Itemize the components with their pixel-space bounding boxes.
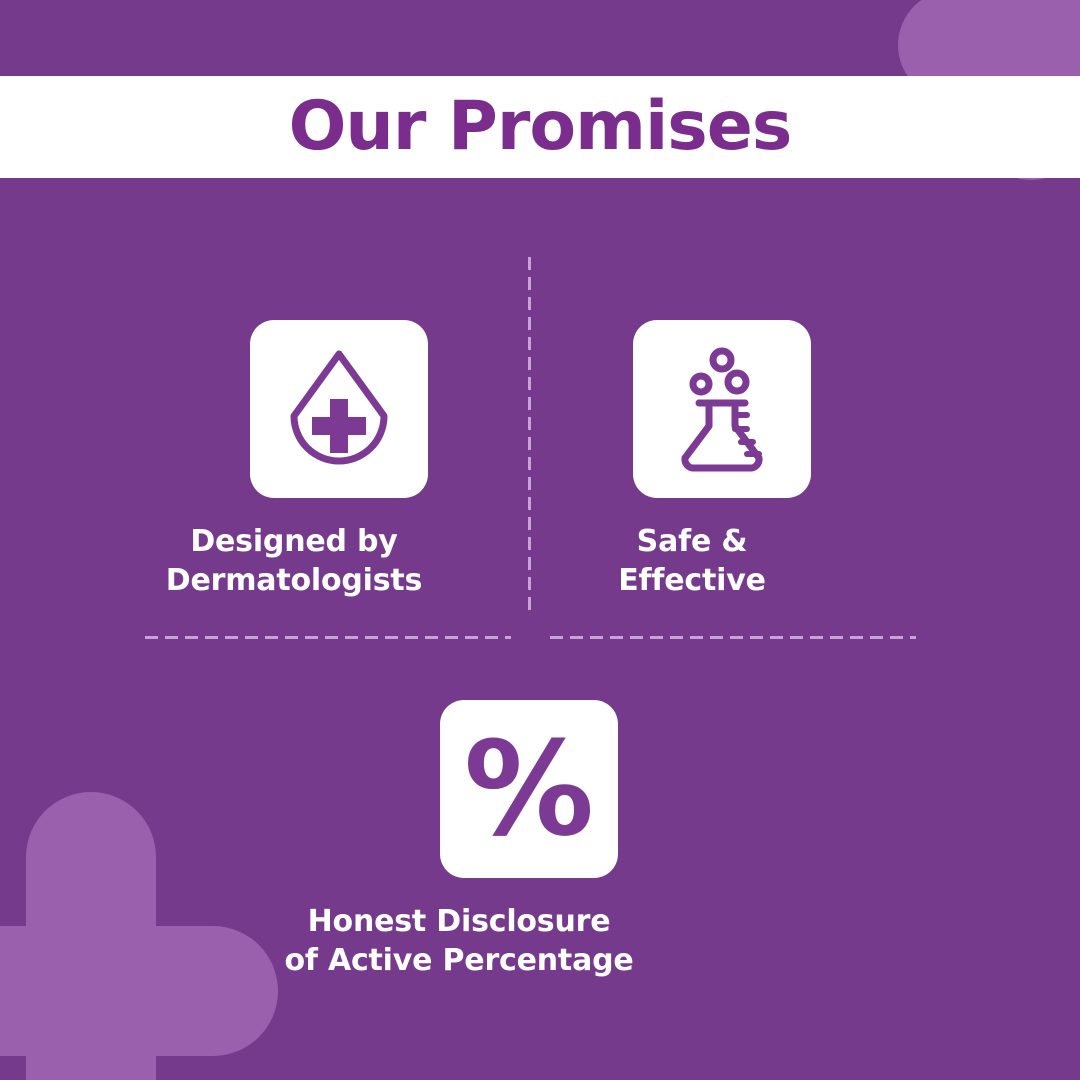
- plus-vertical-bar: [26, 792, 156, 1080]
- promise-icon-card: [633, 320, 811, 498]
- flask-bubbles-icon: [657, 344, 787, 474]
- promise-item-designed-by-dermatologists: Designed by Dermatologists: [249, 320, 429, 600]
- promise-label: Safe & Effective: [542, 522, 842, 600]
- title-banner: Our Promises: [0, 76, 1080, 178]
- promise-icon-card: %: [440, 700, 618, 878]
- divider-vertical-center: [528, 257, 531, 613]
- promise-item-honest-disclosure: % Honest Disclosure of Active Percentage: [439, 700, 619, 980]
- promises-graphic: Our Promises Designed by Dermatologists: [0, 0, 1080, 1080]
- promise-item-safe-and-effective: Safe & Effective: [632, 320, 812, 600]
- page-title: Our Promises: [289, 93, 792, 161]
- divider-horizontal-left: [145, 636, 511, 639]
- divider-horizontal-right: [550, 636, 916, 639]
- percent-icon: %: [464, 724, 594, 854]
- promise-label: Designed by Dermatologists: [114, 522, 474, 600]
- promise-label: Honest Disclosure of Active Percentage: [229, 902, 689, 980]
- droplet-plus-icon: [274, 344, 404, 474]
- promise-icon-card: [250, 320, 428, 498]
